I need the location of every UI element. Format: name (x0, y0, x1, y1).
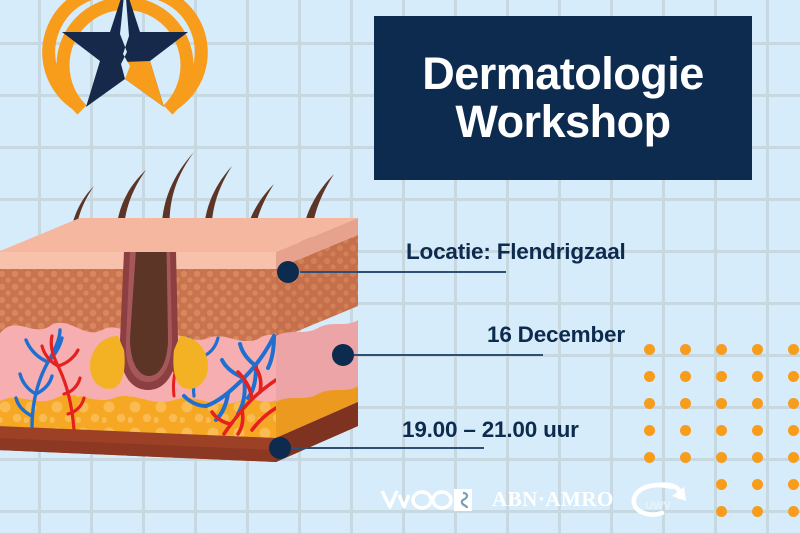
pattern-dot (716, 344, 727, 355)
callout-datum-line (354, 354, 543, 356)
pattern-dot (752, 479, 763, 490)
pattern-dot (644, 452, 655, 463)
callout-tijd-label: 19.00 – 21.00 uur (402, 417, 579, 443)
pattern-dot (716, 425, 727, 436)
pattern-dot (752, 398, 763, 409)
title-card: Dermatologie Workshop (374, 16, 752, 180)
callout-locatie-label: Locatie: Flendrigzaal (406, 239, 626, 265)
pattern-dot (788, 452, 799, 463)
pattern-dot (716, 479, 727, 490)
pattern-dot (788, 344, 799, 355)
pattern-dot (716, 398, 727, 409)
callout-tijd-line (291, 447, 484, 449)
pattern-dot (788, 479, 799, 490)
pattern-dot (752, 452, 763, 463)
pattern-dot (680, 344, 691, 355)
pattern-dot (644, 425, 655, 436)
logo-abn-amro-label: ABN·AMRO (492, 487, 614, 512)
pattern-dot (752, 344, 763, 355)
callout-locatie-line (300, 271, 506, 273)
pattern-dot (680, 425, 691, 436)
pattern-dot (680, 398, 691, 409)
logo-vvaa: VvAA (378, 481, 478, 517)
callout-tijd-dot (269, 437, 291, 459)
pattern-dot (680, 371, 691, 382)
logo-uwv: UWV (628, 481, 690, 517)
pattern-dot (788, 425, 799, 436)
title-line-2: Workshop (455, 98, 670, 146)
star-emblem (40, 0, 210, 144)
pattern-dot (716, 452, 727, 463)
title-line-1: Dermatologie (422, 50, 704, 98)
pattern-dot (752, 425, 763, 436)
pattern-dot (788, 398, 799, 409)
pattern-dot (752, 506, 763, 517)
pattern-dot (644, 344, 655, 355)
logo-abn-amro: ABN·AMRO (492, 481, 614, 517)
pattern-dot (680, 452, 691, 463)
callout-datum-dot (332, 344, 354, 366)
callout-datum-label: 16 December (487, 322, 625, 348)
pattern-dot (716, 506, 727, 517)
poster-canvas: Locatie: Flendrigzaal16 December19.00 – … (0, 0, 800, 533)
pattern-dot (788, 506, 799, 517)
sponsor-logos: VvAA ABN·AMRO UWV (378, 478, 678, 520)
pattern-dot (752, 371, 763, 382)
skin-cross-section-illustration (0, 140, 390, 500)
pattern-dot (644, 371, 655, 382)
pattern-dot (716, 371, 727, 382)
pattern-dot (788, 371, 799, 382)
logo-uwv-label: UWV (645, 500, 671, 512)
pattern-dot (644, 398, 655, 409)
callout-locatie-dot (277, 261, 299, 283)
